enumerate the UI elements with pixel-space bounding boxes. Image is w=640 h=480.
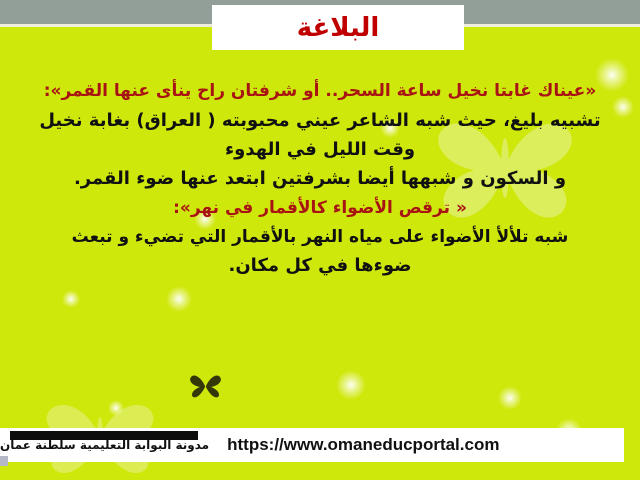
explain-line: وقت الليل في الهدوء (14, 140, 626, 160)
slide-title-box: البلاغة (212, 5, 464, 50)
footer-arabic-caption: مدونة البوابة التعليمية سلطنة عمان (0, 438, 209, 452)
page-title: البلاغة (297, 15, 380, 41)
sparkle-icon (336, 370, 366, 400)
redaction-bar (10, 431, 198, 440)
explain-line: ضوءها في كل مكان. (14, 256, 626, 276)
footer-left-tab (0, 456, 8, 466)
slide-canvas: البلاغة «عيناك غابتا نخيل ساعة السحر.. أ… (0, 0, 640, 480)
sparkle-icon (62, 290, 80, 308)
sparkle-icon (166, 286, 192, 312)
quote-line: «عيناك غابتا نخيل ساعة السحر.. أو شرفتان… (14, 82, 626, 101)
explain-line: شبه تلألأ الأضواء على مياه النهر بالأقما… (14, 228, 626, 247)
quote-line: « ترقص الأضواء كالأقمار في نهر»: (14, 199, 626, 218)
sparkle-icon (108, 400, 124, 416)
sparkle-icon (498, 386, 522, 410)
explain-line: تشبيه بليغ، حيث شبه الشاعر عيني محبوبته … (14, 111, 626, 131)
butterfly-small-icon (188, 372, 222, 398)
footer-url[interactable]: https://www.omaneducportal.com (227, 435, 499, 455)
explain-line: و السكون و شبهها أيضا بشرفتين ابتعد عنها… (14, 169, 626, 189)
slide-body: «عيناك غابتا نخيل ساعة السحر.. أو شرفتان… (0, 82, 640, 285)
